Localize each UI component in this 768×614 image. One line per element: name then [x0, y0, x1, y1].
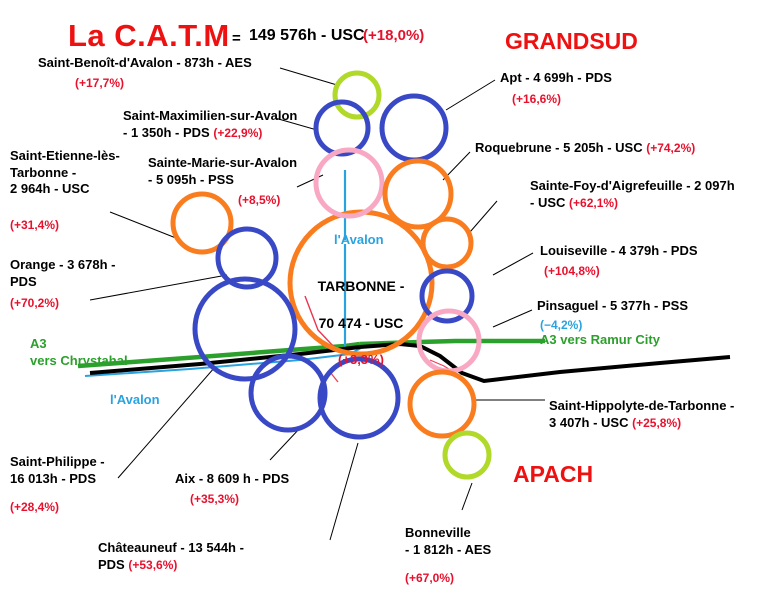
node-percent-box-orange: (+70,2%)	[10, 293, 59, 313]
page-title: La C.A.T.M	[68, 18, 230, 54]
node-label-aix: Aix - 8 609 h - PDS	[175, 471, 289, 488]
node-name-aix: Aix - 8 609 h - PDS	[175, 471, 289, 486]
catm-network-diagram: La C.A.T.M = 149 576h - USC (+18,0%) GRA…	[0, 0, 768, 614]
node-name-apt: Apt - 4 699h - PDS	[500, 70, 612, 85]
node-percent-chateauneuf: (+53,6%)	[128, 558, 177, 572]
node-label-chateauneuf: Châteauneuf - 13 544h - PDS (+53,6%)	[98, 540, 244, 573]
node-label-apt: Apt - 4 699h - PDS	[500, 70, 612, 87]
center-node-value: 70 474 - USC	[319, 315, 404, 331]
node-percent-box-aix: (+35,3%)	[190, 489, 239, 509]
leader-line-saint-benoit-davalon	[280, 68, 337, 85]
node-name-pinsaguel: Pinsaguel - 5 377h - PSS	[537, 298, 688, 313]
center-node-name: TARBONNE -	[318, 278, 405, 294]
node-label-saint-etienne-les-tarbonne: Saint-Etienne-lès- Tarbonne - 2 964h - U…	[10, 148, 120, 198]
node-percent-saint-benoit-davalon: (+17,7%)	[75, 76, 124, 90]
node-percent-aix: (+35,3%)	[190, 492, 239, 506]
node-percent-box-sainte-marie-sur-avalon: (+8,5%)	[238, 190, 280, 210]
node-percent-bonneville: (+67,0%)	[405, 571, 454, 585]
node-percent-box-saint-etienne-les-tarbonne: (+31,4%)	[10, 215, 59, 235]
node-name-roquebrune: Roquebrune - 5 205h - USC	[475, 140, 643, 155]
node-percent-saint-philippe: (+28,4%)	[10, 500, 59, 514]
leader-line-apt	[446, 80, 495, 110]
node-percent-box-bonneville: (+67,0%)	[405, 568, 454, 588]
center-node-percent: (+3,3%)	[338, 352, 384, 367]
road-label-a3-chrystahal: A3 vers Chrystahal	[30, 336, 128, 370]
node-name-saint-maximilien-sur-avalon: Saint-Maximilien-sur-Avalon - 1 350h - P…	[123, 108, 297, 140]
leader-line-aix	[270, 428, 300, 460]
node-label-saint-philippe: Saint-Philippe - 16 013h - PDS	[10, 454, 105, 487]
node-label-sainte-foy-daigrefeuille: Sainte-Foy-d'Aigrefeuille - 2 097h - USC…	[530, 178, 735, 211]
node-percent-box-saint-benoit-davalon: (+17,7%)	[75, 73, 124, 93]
node-circle-saint-hippolyte-de-tarbonne[interactable]	[410, 372, 474, 436]
leader-line-sainte-foy-daigrefeuille	[470, 201, 497, 232]
region-apach: APACH	[513, 461, 593, 488]
node-label-orange: Orange - 3 678h - PDS	[10, 257, 115, 290]
leader-line-bonneville	[462, 483, 472, 510]
node-circle-saint-benoit-davalon[interactable]	[335, 73, 379, 117]
leader-line-louiseville	[493, 253, 533, 275]
node-name-orange: Orange - 3 678h - PDS	[10, 257, 115, 289]
node-percent-louiseville: (+104,8%)	[544, 264, 600, 278]
node-percent-saint-maximilien-sur-avalon: (+22,9%)	[213, 126, 262, 140]
leader-line-saint-etienne-les-tarbonne	[110, 212, 181, 240]
node-percent-apt: (+16,6%)	[512, 92, 561, 106]
node-name-sainte-foy-daigrefeuille: Sainte-Foy-d'Aigrefeuille - 2 097h - USC	[530, 178, 735, 210]
leader-line-saint-philippe	[118, 367, 215, 478]
node-name-bonneville: Bonneville - 1 812h - AES	[405, 525, 491, 557]
node-label-pinsaguel: Pinsaguel - 5 377h - PSS	[537, 298, 688, 315]
node-percent-sainte-foy-daigrefeuille: (+62,1%)	[569, 196, 618, 210]
node-percent-box-pinsaguel: (−4,2%)	[540, 315, 582, 335]
river-label-avalon-center: l'Avalon	[334, 232, 384, 247]
node-label-saint-benoit-davalon: Saint-Benoît-d'Avalon - 873h - AES	[38, 55, 252, 72]
node-percent-roquebrune: (+74,2%)	[646, 141, 695, 155]
total-hours: 149 576h - USC	[249, 27, 365, 45]
node-percent-box-louiseville: (+104,8%)	[544, 261, 600, 281]
node-circle-bonneville[interactable]	[445, 433, 489, 477]
node-percent-sainte-marie-sur-avalon: (+8,5%)	[238, 193, 280, 207]
node-name-louiseville: Louiseville - 4 379h - PDS	[540, 243, 698, 258]
node-name-saint-philippe: Saint-Philippe - 16 013h - PDS	[10, 454, 105, 486]
node-label-bonneville: Bonneville - 1 812h - AES	[405, 525, 491, 558]
node-circle-chateauneuf[interactable]	[320, 359, 398, 437]
node-circle-apt[interactable]	[382, 96, 446, 160]
region-grandsud: GRANDSUD	[505, 28, 638, 55]
node-percent-box-saint-philippe: (+28,4%)	[10, 497, 59, 517]
river-label-avalon-west: l'Avalon	[110, 392, 160, 407]
node-label-sainte-marie-sur-avalon: Sainte-Marie-sur-Avalon - 5 095h - PSS	[148, 155, 297, 188]
node-percent-saint-hippolyte-de-tarbonne: (+25,8%)	[632, 416, 681, 430]
node-label-roquebrune: Roquebrune - 5 205h - USC (+74,2%)	[475, 140, 695, 157]
node-percent-box-apt: (+16,6%)	[512, 89, 561, 109]
node-circle-roquebrune[interactable]	[385, 161, 451, 227]
node-percent-saint-etienne-les-tarbonne: (+31,4%)	[10, 218, 59, 232]
node-name-saint-etienne-les-tarbonne: Saint-Etienne-lès- Tarbonne - 2 964h - U…	[10, 148, 120, 196]
node-name-sainte-marie-sur-avalon: Sainte-Marie-sur-Avalon - 5 095h - PSS	[148, 155, 297, 187]
title-equals-sign: =	[232, 30, 241, 47]
node-circle-sainte-marie-sur-avalon[interactable]	[316, 150, 382, 216]
total-percent: (+18,0%)	[363, 27, 424, 44]
leader-line-pinsaguel	[493, 310, 532, 327]
node-label-louiseville: Louiseville - 4 379h - PDS	[540, 243, 698, 260]
node-percent-pinsaguel: (−4,2%)	[540, 318, 582, 332]
node-name-saint-benoit-davalon: Saint-Benoît-d'Avalon - 873h - AES	[38, 55, 252, 70]
node-percent-orange: (+70,2%)	[10, 296, 59, 310]
node-label-saint-hippolyte-de-tarbonne: Saint-Hippolyte-de-Tarbonne - 3 407h - U…	[549, 398, 734, 431]
node-label-saint-maximilien-sur-avalon: Saint-Maximilien-sur-Avalon - 1 350h - P…	[123, 108, 297, 141]
leader-line-chateauneuf	[330, 443, 358, 540]
center-node-label: TARBONNE - 70 474 - USC (+3,3%)	[291, 259, 431, 369]
